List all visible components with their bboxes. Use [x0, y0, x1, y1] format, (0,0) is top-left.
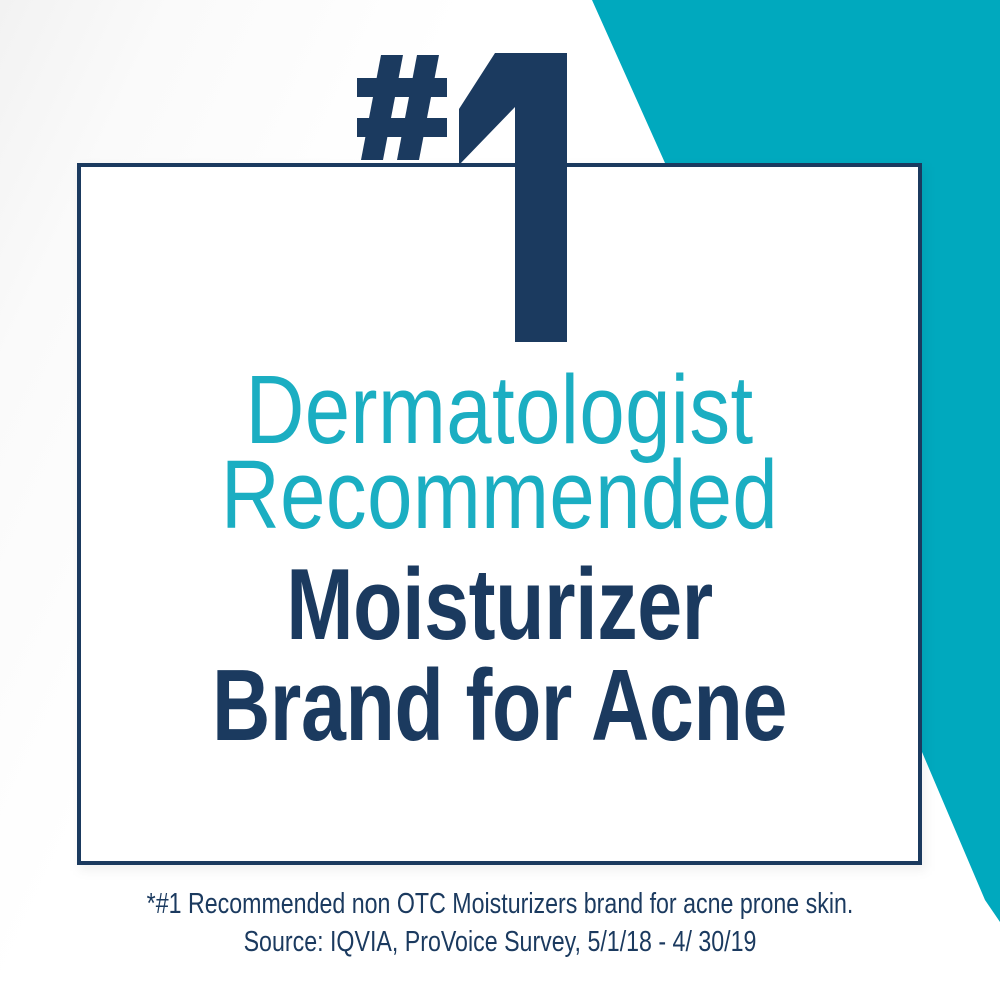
footnote-block: *#1 Recommended non OTC Moisturizers bra… [0, 885, 1000, 962]
promo-graphic-canvas: Dermatologist Recommended Moisturizer Br… [0, 0, 1000, 1000]
headline-line-recommended: Recommended [145, 449, 855, 540]
headline-line-moisturizer: Moisturizer [162, 554, 838, 657]
number-one-badge-icon [355, 45, 605, 350]
headline-block: Dermatologist Recommended Moisturizer Br… [77, 360, 922, 758]
footnote-source: Source: IQVIA, ProVoice Survey, 5/1/18 -… [100, 923, 900, 961]
footnote-claim: *#1 Recommended non OTC Moisturizers bra… [100, 885, 900, 923]
headline-line-brand-for-acne: Brand for Acne [162, 655, 838, 758]
